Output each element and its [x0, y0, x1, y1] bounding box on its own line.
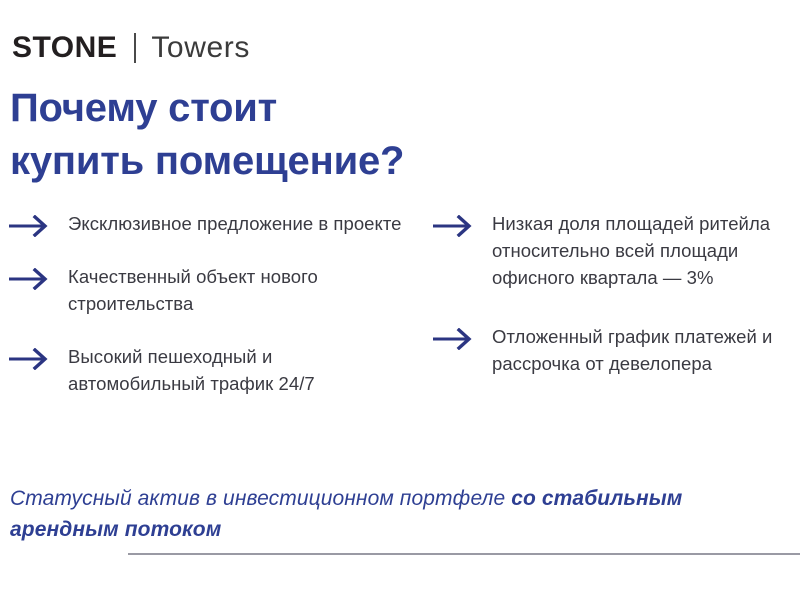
closing-statement: Статусный актив в инвестиционном портфел…: [10, 484, 710, 545]
page-title-line-1: Почему стоит: [10, 82, 630, 135]
arrow-right-icon: [8, 348, 52, 370]
list-item-label: Отложенный график платежей и рассрочка о…: [492, 323, 800, 377]
list-item-label: Эксклюзивное предложение в проекте: [68, 210, 402, 237]
list-item: Высокий пешеходный и автомобильный трафи…: [8, 343, 408, 397]
arrow-right-icon: [432, 215, 476, 237]
arrow-right-icon: [8, 268, 52, 290]
page-title: Почему стоит купить помещение?: [10, 82, 630, 188]
arrow-right-icon: [8, 215, 52, 237]
brand-product-name: Towers: [151, 33, 250, 63]
list-item: Низкая доля площадей ритейла относительн…: [432, 210, 800, 291]
list-item-label: Низкая доля площадей ритейла относительн…: [492, 210, 800, 291]
list-item: Качественный объект нового строительства: [8, 263, 408, 317]
slide-root: STONE Towers Почему стоит купить помещен…: [0, 0, 800, 600]
footer-divider: [128, 553, 800, 555]
brand-name: STONE: [12, 33, 117, 63]
brand-lockup: STONE Towers: [12, 28, 250, 68]
closing-statement-regular: Статусный актив в инвестиционном портфел…: [10, 487, 511, 510]
list-item: Отложенный график платежей и рассрочка о…: [432, 323, 800, 377]
list-item-label: Качественный объект нового строительства: [68, 263, 408, 317]
benefits-column-right: Низкая доля площадей ритейла относительн…: [432, 210, 800, 405]
page-title-line-2: купить помещение?: [10, 135, 630, 188]
list-item-label: Высокий пешеходный и автомобильный трафи…: [68, 343, 408, 397]
arrow-right-icon: [432, 328, 476, 350]
brand-divider-line: [134, 33, 136, 63]
benefits-column-left: Эксклюзивное предложение в проекте Качес…: [8, 210, 408, 425]
list-item: Эксклюзивное предложение в проекте: [8, 210, 408, 237]
